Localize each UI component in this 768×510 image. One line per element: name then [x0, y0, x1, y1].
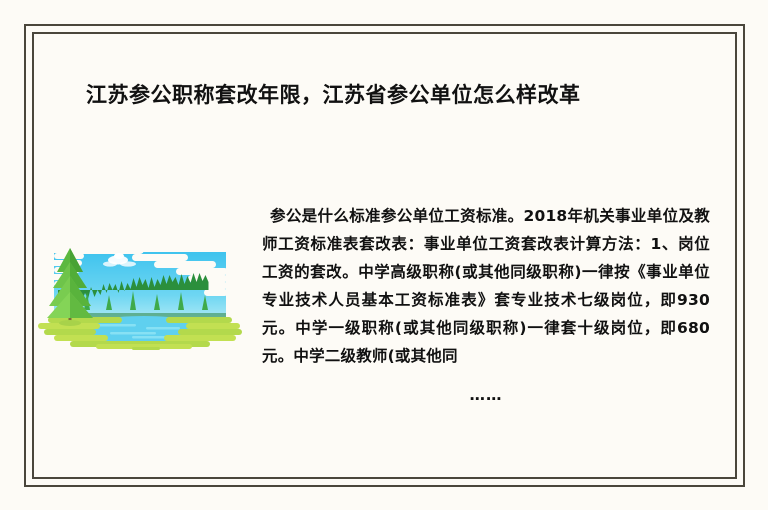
page-title: 江苏参公职称套改年限，江苏省参公单位怎么样改革: [86, 82, 686, 109]
page-root: 江苏参公职称套改年限，江苏省参公单位怎么样改革: [0, 0, 768, 510]
article-body: 参公是什么标准参公单位工资标准。2018年机关事业单位及教师工资标准表套改表：事…: [262, 202, 710, 370]
article-continuation-ellipsis: ……: [262, 386, 710, 404]
lake-forest-landscape-illustration: [36, 214, 246, 350]
landscape-svg: [36, 214, 246, 350]
